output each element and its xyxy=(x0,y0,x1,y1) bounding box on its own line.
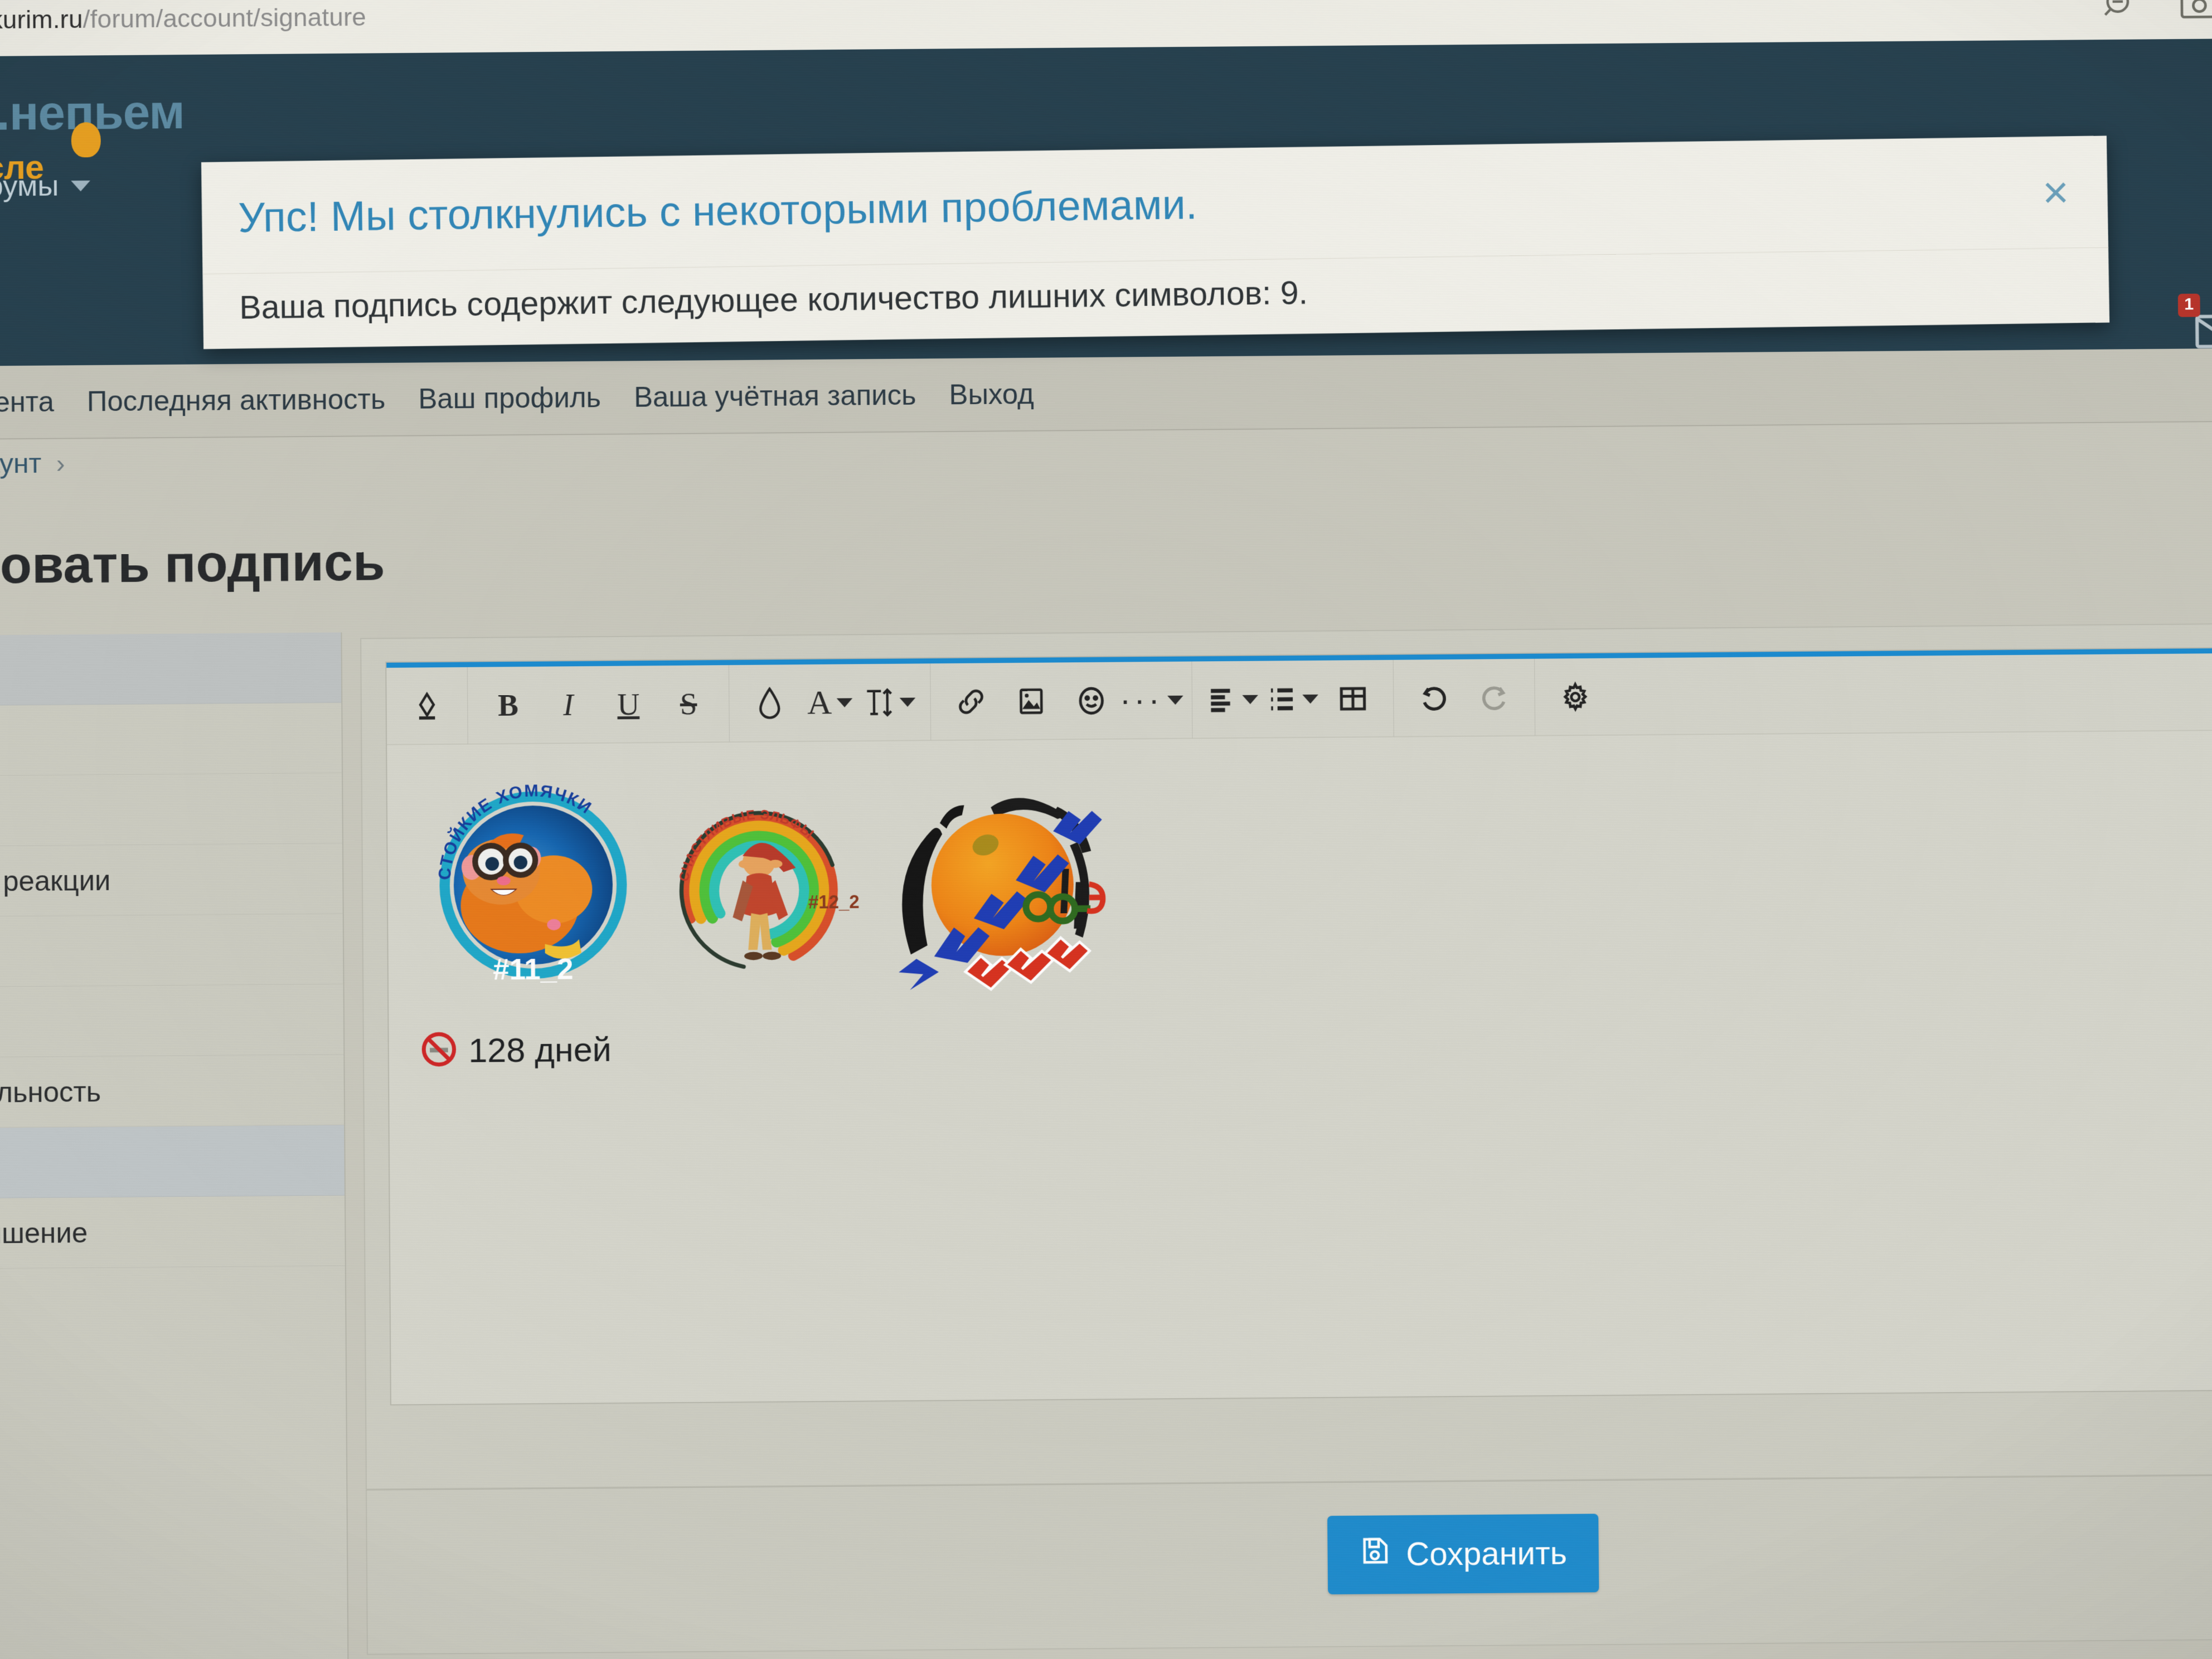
breadcrumb-item-account[interactable]: аккаунт xyxy=(0,448,41,480)
sidebar-item-label: е реакции xyxy=(0,864,111,898)
chevron-down-icon xyxy=(836,698,852,707)
chevron-down-icon xyxy=(1302,694,1318,704)
strikethrough-icon[interactable]: S xyxy=(658,673,719,734)
monitor-screen: ne-kurim.ru/forum/account/signature оим.… xyxy=(0,0,2212,1659)
url-bar-icons xyxy=(2101,0,2212,23)
toolbar-group-inline: B I U S xyxy=(468,665,730,744)
toolbar-group-insert: ··· xyxy=(930,662,1192,740)
chevron-right-icon: › xyxy=(56,448,65,479)
no-smoking-icon xyxy=(421,1031,458,1071)
badge-schastlivye-elfy: СЧАСТЛИВЫЕ ЭЛЬФЫ #12_2 xyxy=(656,782,862,987)
magnifier-minus-icon[interactable] xyxy=(2101,0,2139,23)
floppy-disk-icon xyxy=(1359,1535,1390,1574)
svg-text:#12_2: #12_2 xyxy=(808,891,860,913)
sidebar-item-reactions[interactable]: е реакции xyxy=(0,843,343,917)
settings-gear-icon[interactable] xyxy=(1545,667,1605,727)
subnav-item-your-account[interactable]: Ваша учётная запись xyxy=(634,379,916,414)
undo-icon[interactable] xyxy=(1404,667,1464,728)
toolbar-group-paragraph xyxy=(1192,660,1394,738)
font-size-icon[interactable] xyxy=(860,672,920,733)
url-text[interactable]: ne-kurim.ru/forum/account/signature xyxy=(0,2,366,35)
sidebar-item-7[interactable] xyxy=(0,1125,345,1199)
list-icon[interactable] xyxy=(1263,668,1323,729)
breadcrumb: аккаунт › xyxy=(0,448,65,481)
link-icon[interactable] xyxy=(941,671,1002,732)
quit-days-text: 128 дней xyxy=(468,1030,612,1070)
signature-editor: B I U S A xyxy=(385,647,2212,1405)
url-host: ne-kurim.ru xyxy=(0,4,83,35)
chevron-down-icon xyxy=(900,697,916,707)
toolbar-group-font: A xyxy=(729,663,931,741)
align-icon[interactable] xyxy=(1202,669,1263,730)
close-icon[interactable]: × xyxy=(2042,169,2069,215)
sidebar-item-label: альность xyxy=(0,1075,101,1109)
sidebar-item-1[interactable]: ь xyxy=(0,703,342,777)
quit-days-line: 128 дней xyxy=(421,1017,2212,1071)
sidebar-item-upgrade[interactable]: ышение xyxy=(0,1196,345,1269)
table-icon[interactable] xyxy=(1323,668,1384,729)
toolbar-group-clear xyxy=(386,667,468,745)
bold-icon[interactable]: B xyxy=(478,675,539,736)
emoji-icon[interactable] xyxy=(1061,670,1122,731)
chevron-down-icon xyxy=(1242,695,1258,704)
error-dialog: Упс! Мы столкнулись с некоторыми проблем… xyxy=(201,135,2109,349)
signature-content[interactable]: СТОЙКИЕ ХОМЯЧКИ #11_2 xyxy=(387,731,2212,1404)
sidebar-item-4[interactable]: я xyxy=(0,914,343,987)
page-title: ировать подпись xyxy=(0,533,385,596)
sidebar-item-privacy[interactable]: альность xyxy=(0,1055,344,1128)
signature-badges: СТОЙКИЕ ХОМЯЧКИ #11_2 xyxy=(419,758,2212,1005)
save-button-label: Сохранить xyxy=(1406,1535,1567,1574)
url-path: /forum/account/signature xyxy=(83,2,367,33)
sidebar-item-2[interactable]: я xyxy=(0,773,342,847)
signature-editor-card: B I U S A xyxy=(360,623,2212,1490)
camera-icon[interactable] xyxy=(2179,0,2212,21)
sidebar-item-label: ышение xyxy=(0,1216,88,1250)
nav-forums-label: Форумы xyxy=(0,169,59,203)
sidebar-item-0[interactable]: т xyxy=(0,632,341,706)
sidebar-item-5[interactable]: ь xyxy=(0,984,343,1058)
text-color-icon[interactable] xyxy=(739,673,800,734)
italic-icon[interactable]: I xyxy=(538,675,599,735)
editor-toolbar: B I U S A xyxy=(386,653,2212,745)
subnav-item-recent-activity[interactable]: Последняя активность xyxy=(87,382,386,418)
remove-formatting-icon[interactable] xyxy=(397,676,458,736)
toolbar-group-settings xyxy=(1535,658,1616,735)
redo-icon[interactable] xyxy=(1464,667,1525,728)
inbox-badge: 1 xyxy=(2178,294,2200,317)
underline-icon[interactable]: U xyxy=(598,674,659,735)
subnav-item-your-profile[interactable]: Ваш профиль xyxy=(418,381,601,415)
chevron-down-icon xyxy=(1167,695,1183,705)
account-sidebar: т ь я е реакции я ь альность ышение xyxy=(0,632,349,1659)
form-actions-bar: Сохранить xyxy=(366,1474,2212,1655)
more-options-icon[interactable]: ··· xyxy=(1121,670,1182,730)
toolbar-group-history xyxy=(1394,659,1536,736)
badge-zhelezny-apelsin xyxy=(871,773,1128,1002)
nav-forums[interactable]: Форумы xyxy=(0,169,90,204)
subnav-item-logout[interactable]: Выход xyxy=(949,377,1034,411)
font-family-icon[interactable]: A xyxy=(799,672,860,733)
svg-text:#11_2: #11_2 xyxy=(493,953,574,986)
subnav-item-feed[interactable]: лента xyxy=(0,385,54,419)
logo-drop-icon xyxy=(71,122,101,157)
chevron-down-icon xyxy=(71,180,91,191)
badge-stoikie-homyachki: СТОЙКИЕ ХОМЯЧКИ #11_2 xyxy=(419,771,648,1000)
error-dialog-title: Упс! Мы столкнулись с некоторыми проблем… xyxy=(238,180,1198,241)
image-icon[interactable] xyxy=(1001,671,1062,731)
save-button[interactable]: Сохранить xyxy=(1327,1514,1599,1594)
